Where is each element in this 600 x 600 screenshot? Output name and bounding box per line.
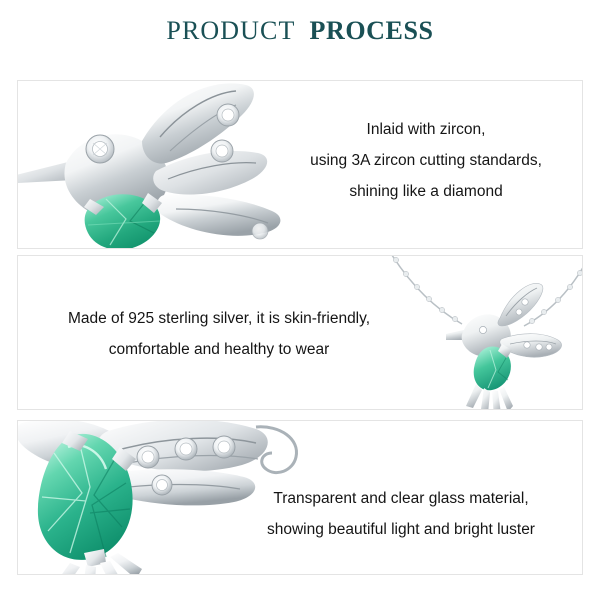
zircon-stone xyxy=(86,135,114,163)
zircon-stone xyxy=(252,223,268,239)
feature-panel-zircon: Inlaid with zircon, using 3A zircon cutt… xyxy=(17,80,583,249)
necklace-chain xyxy=(390,255,583,326)
page-title: PRODUCTPROCESS xyxy=(0,16,600,46)
panel-1-text-block: Inlaid with zircon, using 3A zircon cutt… xyxy=(276,114,576,207)
panel-1-line-2: using 3A zircon cutting standards, xyxy=(276,145,576,176)
zircon-stone xyxy=(213,436,235,458)
panel-1-line-3: shining like a diamond xyxy=(276,176,576,207)
page-title-process: PROCESS xyxy=(309,16,433,46)
zircon-stone xyxy=(175,438,197,460)
feature-panel-glass: Transparent and clear glass material, sh… xyxy=(17,420,583,575)
panel-2-line-2: comfortable and healthy to wear xyxy=(24,334,414,365)
panel-3-line-2: showing beautiful light and bright luste… xyxy=(226,514,576,545)
panel-2-line-1: Made of 925 sterling silver, it is skin-… xyxy=(24,303,414,334)
panel-3-line-1: Transparent and clear glass material, xyxy=(226,483,576,514)
feature-panel-silver: Made of 925 sterling silver, it is skin-… xyxy=(17,255,583,410)
panel-1-line-1: Inlaid with zircon, xyxy=(276,114,576,145)
zircon-stone xyxy=(137,446,159,468)
page-title-product: PRODUCT xyxy=(166,16,295,46)
zircon-stone xyxy=(217,104,239,126)
panel-3-text-block: Transparent and clear glass material, sh… xyxy=(226,483,576,545)
hummingbird-necklace-full-view-image xyxy=(388,255,583,410)
zircon-stone xyxy=(152,475,172,495)
panel-2-text-block: Made of 925 sterling silver, it is skin-… xyxy=(24,303,414,365)
zircon-stone xyxy=(211,140,233,162)
